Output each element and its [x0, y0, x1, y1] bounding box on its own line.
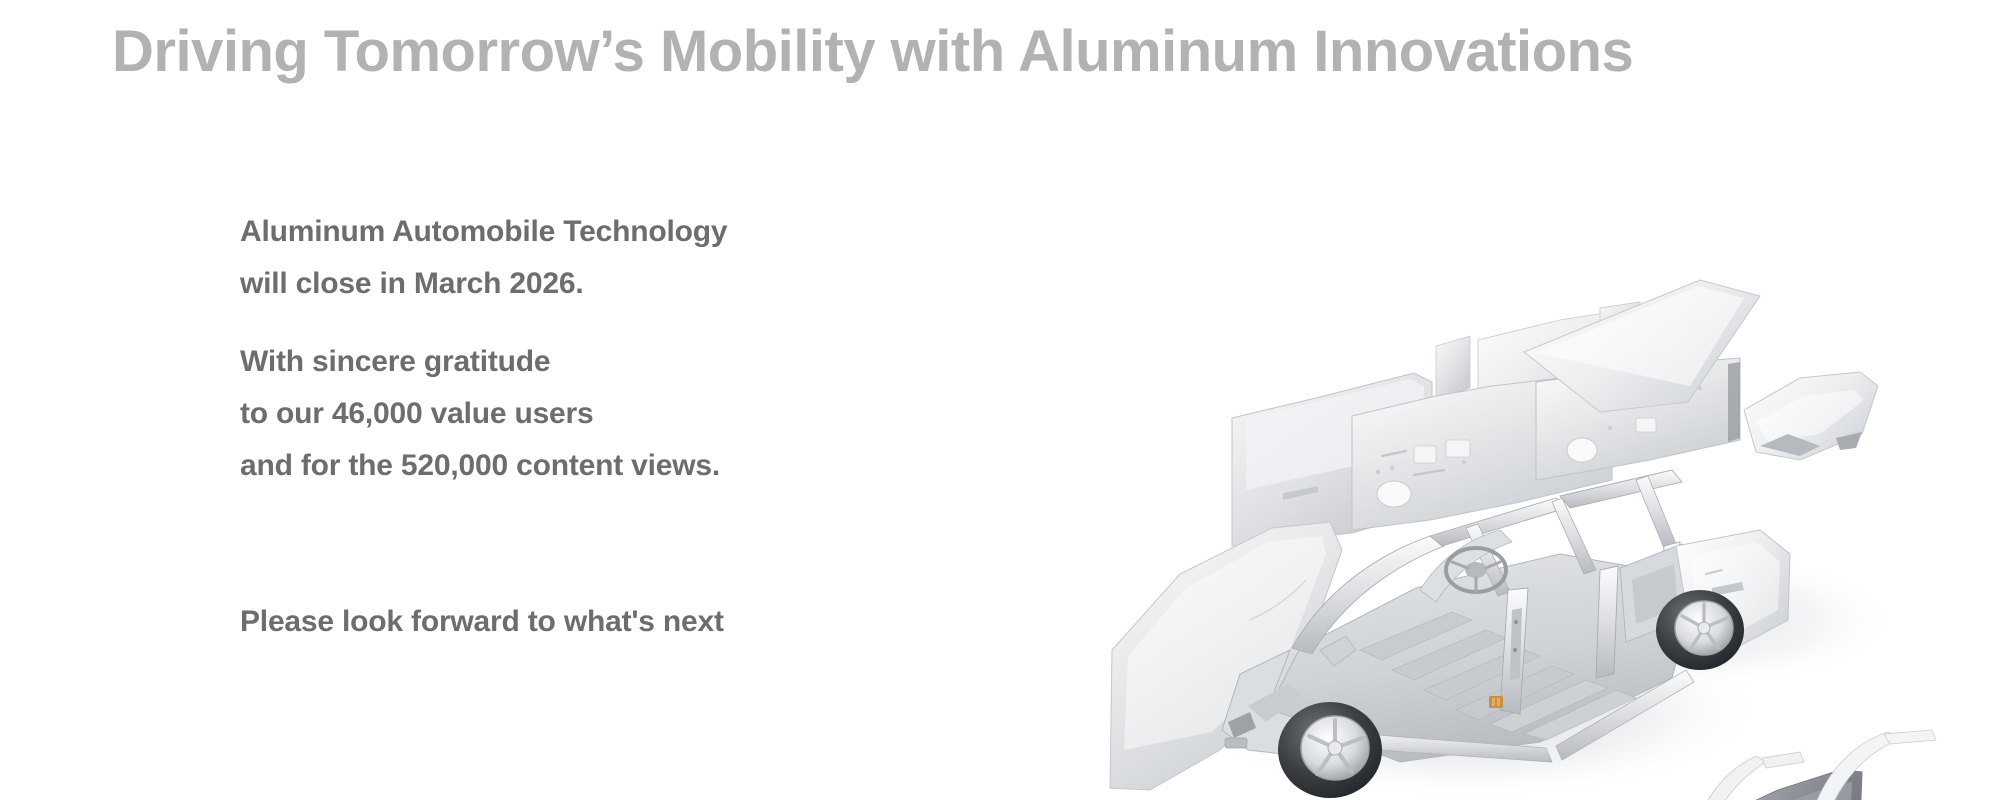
message-block: Aluminum Automobile Technology will clos…	[240, 206, 960, 648]
message-line: will close in March 2026.	[240, 258, 960, 310]
message-line: With sincere gratitude	[240, 336, 960, 388]
message-paragraph-3: Please look forward to what's next	[240, 596, 960, 648]
message-paragraph-1: Aluminum Automobile Technology will clos…	[240, 206, 960, 310]
paragraph-spacer	[240, 492, 960, 596]
front-right-door-frame	[1812, 730, 1936, 800]
message-line: Aluminum Automobile Technology	[240, 206, 960, 258]
exploded-car-illustration	[1000, 150, 2000, 800]
front-wheel	[1278, 702, 1382, 798]
rear-wheel	[1656, 590, 1744, 670]
message-line: to our 46,000 value users	[240, 388, 960, 440]
page-title: Driving Tomorrow’s Mobility with Aluminu…	[112, 20, 1912, 84]
message-paragraph-2: With sincere gratitude to our 46,000 val…	[240, 336, 960, 492]
message-line: Please look forward to what's next	[240, 596, 960, 648]
message-line: and for the 520,000 content views.	[240, 440, 960, 492]
trunk-lid	[1744, 372, 1878, 460]
exploded-car-svg	[1000, 150, 2000, 800]
slide-canvas: Driving Tomorrow’s Mobility with Aluminu…	[0, 0, 2000, 800]
paragraph-spacer	[240, 310, 960, 336]
